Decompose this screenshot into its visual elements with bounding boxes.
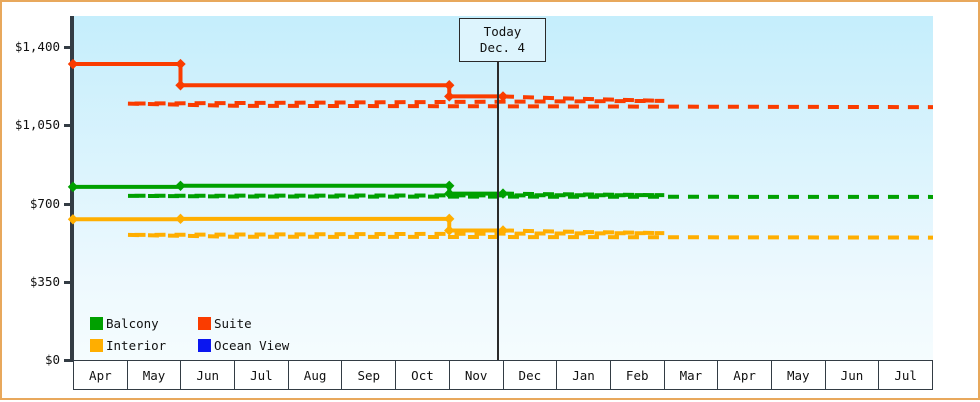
- today-date: Dec. 4: [480, 40, 525, 56]
- legend-label: Ocean View: [214, 338, 289, 353]
- today-vertical-line: [497, 46, 499, 360]
- data-point-marker[interactable]: [68, 214, 78, 224]
- x-axis-month-apr[interactable]: Apr: [73, 360, 127, 390]
- legend-swatch-icon: [198, 339, 211, 352]
- data-point-marker[interactable]: [444, 225, 454, 235]
- data-point-marker[interactable]: [175, 59, 185, 69]
- x-axis-month-apr[interactable]: Apr: [717, 360, 771, 390]
- legend-label: Suite: [214, 316, 252, 331]
- x-axis-month-dec[interactable]: Dec: [503, 360, 557, 390]
- x-axis-month-scale: AprMayJunJulAugSepOctNovDecJanFebMarAprM…: [73, 360, 933, 390]
- x-axis-month-sep[interactable]: Sep: [341, 360, 395, 390]
- legend-item-interior[interactable]: Interior: [90, 338, 198, 353]
- legend-item-ocean-view[interactable]: Ocean View: [198, 338, 289, 353]
- x-axis-month-jun[interactable]: Jun: [825, 360, 879, 390]
- today-label: Today: [484, 24, 522, 40]
- data-point-marker[interactable]: [175, 214, 185, 224]
- x-axis-month-jun[interactable]: Jun: [180, 360, 234, 390]
- legend-swatch-icon: [90, 339, 103, 352]
- data-point-marker[interactable]: [68, 182, 78, 192]
- series-balcony: [68, 181, 933, 199]
- chart-legend: BalconySuiteInteriorOcean View: [90, 312, 289, 356]
- legend-label: Interior: [106, 338, 166, 353]
- data-point-marker[interactable]: [175, 181, 185, 191]
- data-point-marker[interactable]: [68, 59, 78, 69]
- series-line-historical: [73, 64, 503, 96]
- x-axis-month-oct[interactable]: Oct: [395, 360, 449, 390]
- series-line-historical: [73, 186, 503, 194]
- x-axis-month-mar[interactable]: Mar: [664, 360, 718, 390]
- legend-label: Balcony: [106, 316, 159, 331]
- series-line-historical: [73, 219, 503, 231]
- x-axis-month-nov[interactable]: Nov: [449, 360, 503, 390]
- chart-frame: $0$350$700$1,050$1,400 Today Dec. 4 Balc…: [0, 0, 980, 400]
- x-axis-month-jul[interactable]: Jul: [878, 360, 933, 390]
- data-point-marker[interactable]: [175, 80, 185, 90]
- legend-swatch-icon: [198, 317, 211, 330]
- x-axis-month-aug[interactable]: Aug: [288, 360, 342, 390]
- series-line-forecast: [127, 96, 933, 107]
- x-axis-month-jan[interactable]: Jan: [556, 360, 610, 390]
- series-interior: [68, 214, 933, 238]
- data-point-marker[interactable]: [444, 80, 454, 90]
- legend-item-suite[interactable]: Suite: [198, 316, 289, 331]
- x-axis-month-feb[interactable]: Feb: [610, 360, 664, 390]
- price-history-chart: $0$350$700$1,050$1,400 Today Dec. 4 Balc…: [2, 2, 980, 402]
- x-axis-month-may[interactable]: May: [771, 360, 825, 390]
- series-line-forecast: [127, 230, 933, 237]
- data-point-marker[interactable]: [444, 91, 454, 101]
- series-line-forecast: [127, 194, 933, 197]
- series-suite: [68, 59, 933, 107]
- x-axis-month-may[interactable]: May: [127, 360, 181, 390]
- data-point-marker[interactable]: [444, 214, 454, 224]
- legend-swatch-icon: [90, 317, 103, 330]
- legend-item-balcony[interactable]: Balcony: [90, 316, 198, 331]
- x-axis-month-jul[interactable]: Jul: [234, 360, 288, 390]
- today-callout-box: Today Dec. 4: [459, 18, 546, 62]
